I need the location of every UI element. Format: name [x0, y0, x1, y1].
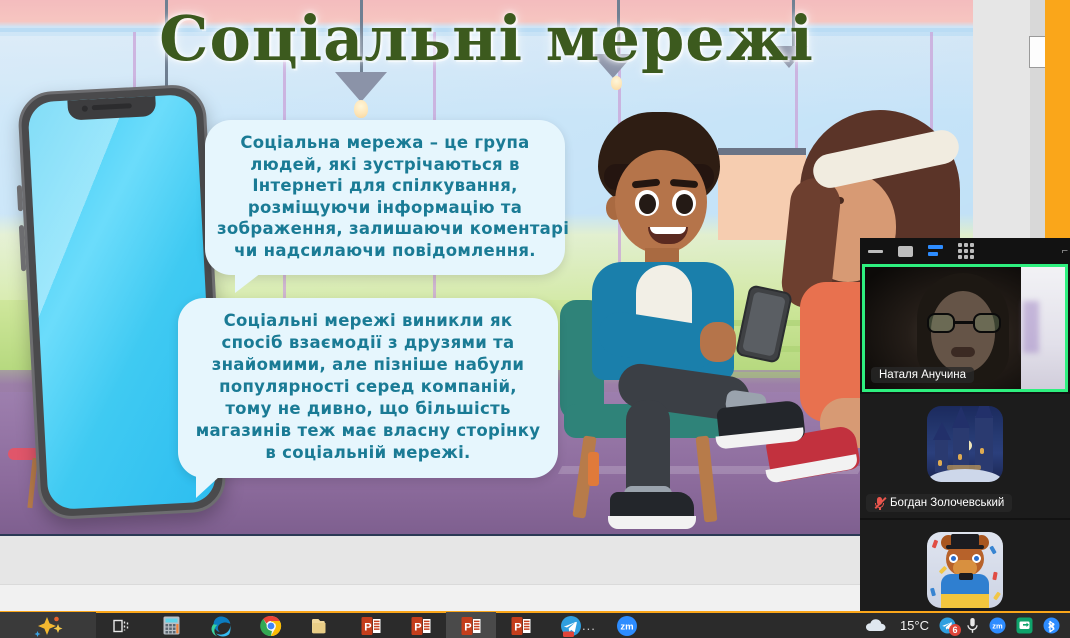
svg-text:zm: zm	[992, 622, 1003, 631]
lamp-bulb	[611, 76, 622, 90]
bubble-line: в соціальній мережі.	[188, 442, 548, 464]
castle-tower	[975, 416, 993, 472]
calculator-icon[interactable]	[146, 612, 196, 638]
mic-muted-icon	[874, 496, 885, 510]
zoom-video-panel[interactable]: ⌐ Наталя Анучина	[860, 238, 1070, 638]
task-view-icon[interactable]	[96, 612, 146, 638]
castle-avatar	[927, 406, 1003, 482]
history-bubble[interactable]: Соціальні мережі виникли як спосіб взаєм…	[178, 298, 558, 478]
bubble-line: тому не дивно, що більшість	[188, 398, 548, 420]
participant-tile[interactable]: Богдан Золочевський	[860, 394, 1070, 518]
boy-sneaker-sole	[608, 516, 696, 529]
bubble-line: Соціальні мережі виникли як	[188, 310, 548, 332]
boy-pupil-right	[676, 194, 693, 214]
system-tray: 15°C 6 zm	[864, 612, 1070, 638]
lamp-shade	[335, 72, 387, 102]
floor-object	[588, 452, 599, 486]
bubble-line: чи надсилаючи повідомлення.	[217, 240, 553, 262]
castle-roof	[975, 406, 993, 418]
powerpoint-icon-2[interactable]: P	[396, 612, 446, 638]
screen-share-tray-icon[interactable]	[1016, 617, 1033, 634]
edge-icon[interactable]	[196, 612, 246, 638]
temperature-label[interactable]: 15°C	[900, 618, 929, 633]
gallery-view-icon[interactable]	[958, 243, 974, 259]
speaker-glasses	[927, 313, 1001, 333]
participant-name: Богдан Золочевський	[890, 497, 1004, 509]
file-explorer-icon[interactable]	[296, 612, 346, 638]
bubble-line: зображення, залишаючи коментарі	[217, 218, 553, 240]
definition-bubble[interactable]: Соціальна мережа – це група людей, які з…	[205, 120, 565, 275]
slide-title[interactable]: Соціальні мережі	[0, 6, 973, 71]
screen: Соціальна мережа – це група людей, які з…	[0, 0, 1070, 638]
zoom-tray-icon[interactable]: zm	[989, 617, 1006, 634]
bubble-line: розміщуючи інформацію та	[217, 197, 553, 219]
castle-roof	[952, 406, 970, 428]
zoom-icon[interactable]: zm	[602, 612, 652, 638]
speaker-view-icon[interactable]	[928, 245, 943, 257]
windows-taskbar: P P P P	[0, 611, 1070, 638]
bluetooth-tray-icon[interactable]	[1043, 617, 1060, 634]
speaker-mouth	[951, 347, 975, 357]
castle-roof	[933, 422, 951, 440]
castle-window-light	[958, 454, 962, 460]
bubble-line: Соціальна мережа – це група	[217, 132, 553, 154]
chrome-icon[interactable]	[246, 612, 296, 638]
vertical-scrollbar-thumb[interactable]	[1029, 36, 1046, 68]
svg-text:P: P	[514, 621, 521, 633]
svg-text:P: P	[364, 621, 371, 633]
speaker-background-window	[1021, 267, 1065, 392]
zoom-panel-toolbar: ⌐	[860, 238, 1070, 264]
castle-window-light	[980, 448, 984, 454]
cloud-icon[interactable]	[864, 618, 890, 634]
overflow-icon[interactable]: ⌐	[1062, 245, 1068, 257]
freddy-avatar	[927, 532, 1003, 608]
telegram-badge: 6	[949, 624, 961, 636]
bubble-line: магазинів теж має власну сторінку	[188, 420, 548, 442]
bubble-line: спосіб взаємодії з друзями та	[188, 332, 548, 354]
freddy-top-hat	[951, 534, 979, 546]
svg-text:P: P	[414, 621, 421, 633]
bubble-line: знайомими, але пізніше набули	[188, 354, 548, 376]
svg-text:zm: zm	[620, 621, 633, 632]
boy-teeth	[650, 227, 686, 234]
castle-window-light	[938, 460, 942, 466]
start-copilot-button[interactable]	[0, 612, 96, 638]
powerpoint-icon-4[interactable]: P	[496, 612, 546, 638]
active-speaker-name-chip: Наталя Анучина	[871, 367, 974, 383]
bubble-line: людей, які зустрічаються в	[217, 154, 553, 176]
active-speaker-tile[interactable]: Наталя Анучина	[862, 264, 1068, 392]
powerpoint-icon-3[interactable]: P	[446, 612, 496, 638]
freddy-bowtie	[959, 573, 973, 580]
slide-canvas[interactable]: Соціальна мережа – це група людей, які з…	[0, 0, 973, 536]
boy-pupil-left	[639, 194, 656, 214]
telegram-icon[interactable]	[546, 612, 596, 638]
svg-text:P: P	[464, 621, 471, 633]
microphone-tray-icon[interactable]	[966, 617, 979, 634]
bubble-line: популярності серед компаній,	[188, 376, 548, 398]
minimize-icon[interactable]	[868, 250, 883, 253]
active-speaker-name: Наталя Анучина	[879, 369, 966, 381]
telegram-tray-icon[interactable]: 6	[939, 617, 956, 634]
powerpoint-icon-1[interactable]: P	[346, 612, 396, 638]
maximize-icon[interactable]	[898, 246, 913, 257]
bubble-line: Інтернеті для спілкування,	[217, 175, 553, 197]
lamp-bulb	[354, 100, 368, 118]
participant-name-chip: Богдан Золочевський	[866, 494, 1012, 512]
boy-hand	[700, 322, 736, 362]
